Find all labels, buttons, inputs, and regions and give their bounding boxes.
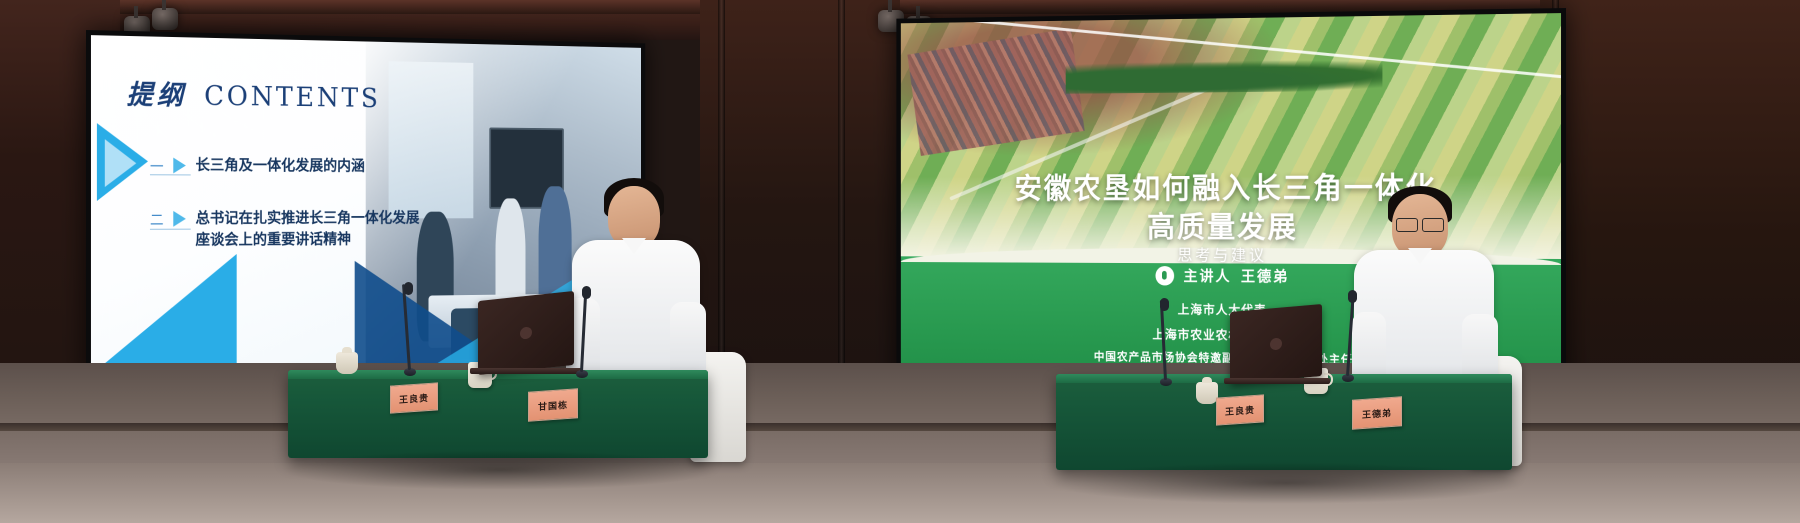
contents-item-2: 二 总书记在扎实推进长三角一体化发展 座谈会上的重要讲话精神 (150, 208, 420, 251)
table-right-shadow (1048, 462, 1524, 504)
photo-village (907, 28, 1084, 156)
nameplate-left-2-label: 甘国栋 (538, 397, 568, 412)
laptop-right-lid[interactable] (1230, 304, 1322, 384)
teapot-left (336, 352, 358, 374)
laptop-left-base[interactable] (470, 368, 582, 374)
nameplate-right-2[interactable]: 王德弟 (1352, 396, 1402, 429)
slide-heading-cn: 提纲 (126, 73, 186, 113)
nameplate-left-1-label: 王良贵 (399, 390, 429, 405)
contents-item-1-number: 一 (150, 154, 164, 176)
collar (1408, 248, 1432, 264)
contents-item-1: 一 长三角及一体化发展的内涵 (150, 154, 365, 177)
laptop-right-base[interactable] (1224, 378, 1330, 384)
speaker-label: 主讲人 (1183, 266, 1231, 287)
microphone-left-head (404, 282, 413, 295)
speaker-name: 王德弟 (1241, 266, 1289, 287)
microphone-right-head-2 (1160, 298, 1169, 311)
table-right (1056, 374, 1512, 470)
bullet-triangle-icon (173, 211, 186, 227)
bullet-triangle-icon (173, 158, 186, 174)
stage-edge (0, 423, 1800, 431)
conference-scene: 提纲 CONTENTS 一 长三角及一体化发展的内涵 二 总书记在扎实推进长三角… (0, 0, 1800, 523)
ceiling-lamp-2 (152, 8, 178, 30)
table-left (288, 370, 708, 458)
glasses-right-lens (1422, 218, 1444, 232)
floor-front (0, 463, 1800, 523)
contents-item-1-label: 长三角及一体化发展的内涵 (196, 155, 365, 177)
nameplate-right-2-label: 王德弟 (1362, 405, 1392, 420)
glasses-left-lens (1396, 218, 1418, 232)
laptop-left-lid[interactable] (478, 291, 574, 375)
table-left-shadow (280, 450, 720, 490)
contents-item-2-label: 总书记在扎实推进长三角一体化发展 座谈会上的重要讲话精神 (196, 208, 420, 251)
decor-triangle-cyan (91, 254, 237, 375)
nameplate-left-2[interactable]: 甘国栋 (528, 388, 578, 421)
teapot-right (1196, 382, 1218, 404)
nameplate-right-1-label: 王良贵 (1225, 402, 1255, 417)
slide-heading-en: CONTENTS (204, 81, 380, 114)
photo-window (389, 62, 473, 218)
microphone-right-head (1348, 290, 1357, 303)
collar (622, 238, 646, 254)
photo-treeline (1066, 59, 1383, 93)
microphone-left-head-2 (582, 286, 591, 299)
microphone-icon (1155, 266, 1174, 285)
contents-item-2-number: 二 (150, 208, 164, 230)
slide-heading: 提纲 CONTENTS (126, 73, 380, 115)
nameplate-left-1[interactable]: 王良贵 (390, 382, 438, 413)
nameplate-right-1[interactable]: 王良贵 (1216, 394, 1264, 425)
